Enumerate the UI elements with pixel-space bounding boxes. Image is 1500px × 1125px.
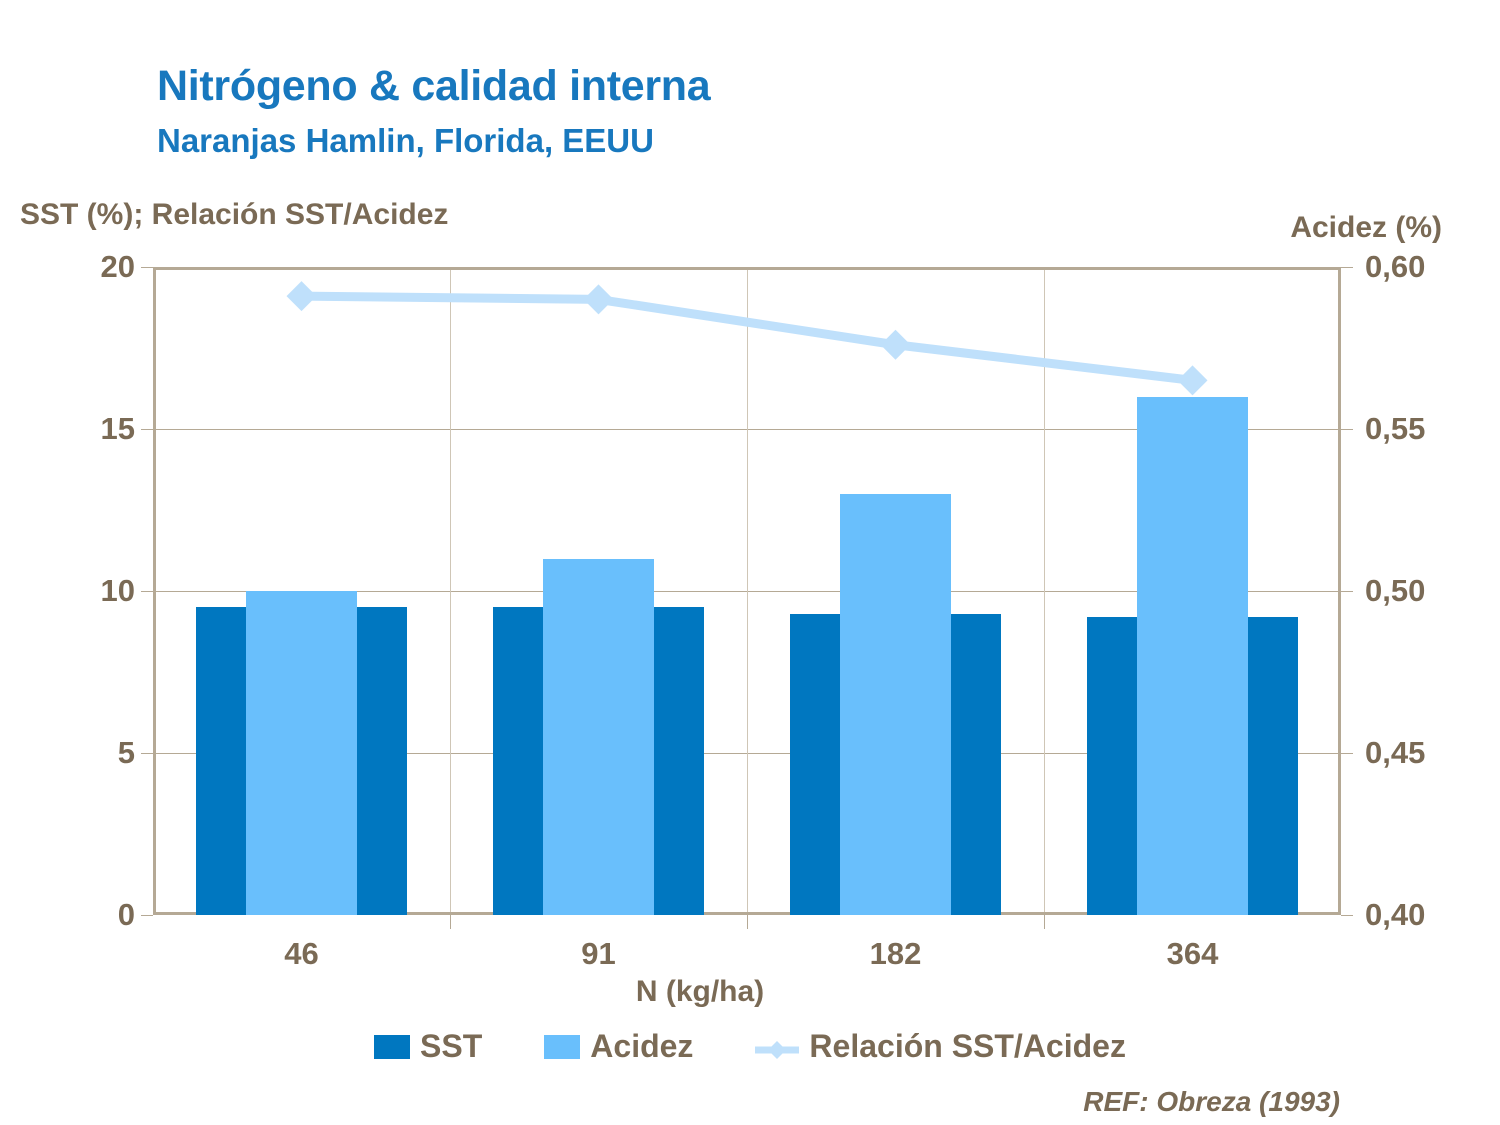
legend-swatch-acidez-icon [544, 1035, 580, 1059]
legend-label-acidez: Acidez [590, 1028, 693, 1065]
right-axis-tick-mark [1341, 267, 1353, 268]
x-axis-tick-label: 46 [284, 936, 318, 972]
legend-item-ratio[interactable]: Relación SST/Acidez [755, 1028, 1126, 1065]
left-axis-title: SST (%); Relación SST/Acidez [20, 198, 448, 232]
legend-item-sst[interactable]: SST [374, 1028, 482, 1065]
legend-item-acidez[interactable]: Acidez [544, 1028, 693, 1065]
reference-note: REF: Obreza (1993) [1083, 1086, 1340, 1118]
legend-label-ratio: Relación SST/Acidez [809, 1028, 1126, 1065]
left-axis-tick-label: 0 [118, 897, 135, 933]
legend-swatch-sst-icon [374, 1035, 410, 1059]
left-axis-tick-label: 20 [101, 249, 135, 285]
right-axis-tick-mark [1341, 591, 1353, 592]
right-axis-title: Acidez (%) [1290, 211, 1442, 245]
left-axis-tick-mark [141, 267, 153, 268]
left-axis-tick-mark [141, 429, 153, 430]
legend-line-diamond-icon [755, 1034, 799, 1060]
left-axis-tick-label: 5 [118, 735, 135, 771]
chart-title: Nitrógeno & calidad interna [157, 62, 710, 111]
x-axis-tick-label: 364 [1167, 936, 1219, 972]
legend: SST Acidez Relación SST/Acidez [0, 1028, 1500, 1065]
ratio-diamond-marker [287, 281, 317, 311]
x-axis-tick-mark [450, 915, 451, 929]
x-axis-title: N (kg/ha) [0, 975, 1500, 1009]
legend-label-sst: SST [420, 1028, 482, 1065]
left-axis-tick-mark [141, 753, 153, 754]
ratio-diamond-marker [881, 330, 911, 360]
x-axis-tick-label: 91 [581, 936, 615, 972]
chart-subtitle: Naranjas Hamlin, Florida, EEUU [157, 122, 654, 160]
right-axis-tick-mark [1341, 429, 1353, 430]
left-axis-tick-label: 10 [101, 573, 135, 609]
left-axis-tick-label: 15 [101, 411, 135, 447]
x-axis-tick-label: 182 [870, 936, 922, 972]
ratio-line-series [153, 267, 1341, 915]
right-axis-tick-label: 0,60 [1365, 249, 1425, 285]
left-axis-tick-mark [141, 591, 153, 592]
x-axis-title-label: N (kg/ha) [636, 975, 764, 1009]
right-axis-tick-mark [1341, 915, 1353, 916]
ratio-diamond-marker [584, 284, 614, 314]
plot-area [153, 267, 1341, 915]
right-axis-tick-label: 0,50 [1365, 573, 1425, 609]
x-axis-tick-mark [747, 915, 748, 929]
right-axis-tick-label: 0,40 [1365, 897, 1425, 933]
ratio-diamond-marker [1178, 365, 1208, 395]
right-axis-tick-label: 0,55 [1365, 411, 1425, 447]
left-axis-tick-mark [141, 915, 153, 916]
right-axis-tick-mark [1341, 753, 1353, 754]
right-axis-tick-label: 0,45 [1365, 735, 1425, 771]
x-axis-tick-mark [1044, 915, 1045, 929]
ratio-line-path [302, 296, 1193, 380]
